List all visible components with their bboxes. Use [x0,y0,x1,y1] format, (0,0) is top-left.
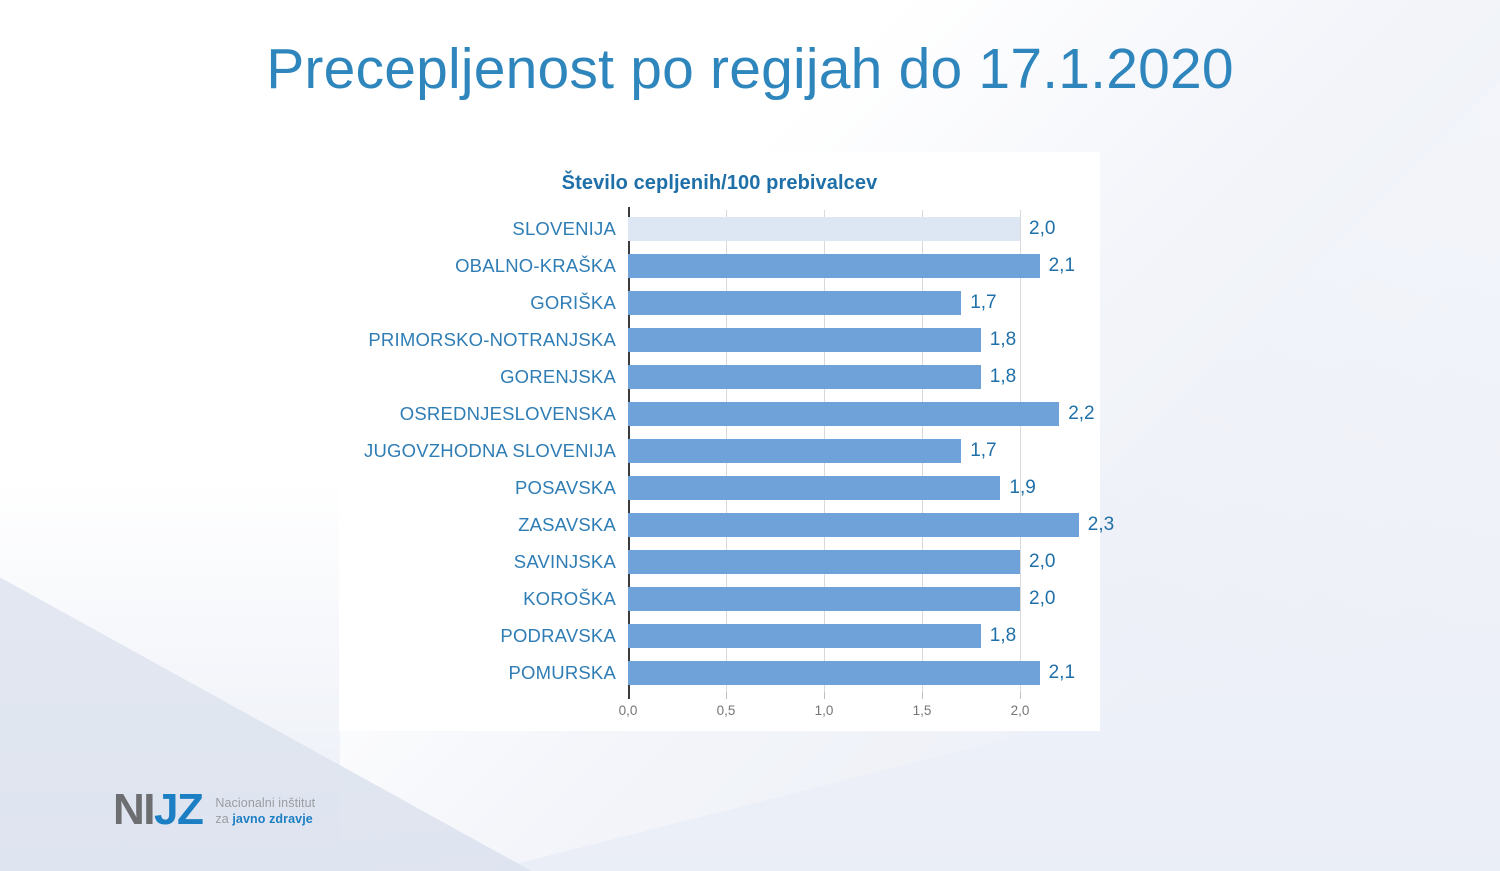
logo-tagline-line1: Nacionalni inštitut [215,796,315,811]
category-label: POSAVSKA [515,477,616,499]
bar-value-label: 2,1 [1049,662,1075,684]
x-tick-label: 1,5 [913,703,932,718]
bar[interactable] [628,365,981,389]
x-tick-label: 0,0 [619,703,638,718]
chart-x-axis: 0,00,51,01,52,0 [628,692,1020,732]
chart-bar-row: ZASAVSKA2,3 [628,507,1220,544]
chart-title: Število cepljenih/100 prebivalcev [339,172,1100,195]
category-label: POMURSKA [509,662,616,684]
x-tick-label: 2,0 [1011,703,1030,718]
category-label: KOROŠKA [523,588,616,610]
category-label: GORENJSKA [500,366,616,388]
logo-tagline: Nacionalni inštitut za javno zdravje [215,793,315,827]
category-label: JUGOVZHODNA SLOVENIJA [364,440,616,462]
category-label: ZASAVSKA [518,514,616,536]
chart-bar-row: OSREDNJESLOVENSKA2,2 [628,395,1220,432]
chart-bar-row: POMURSKA2,1 [628,655,1220,692]
category-label: SLOVENIJA [512,218,616,240]
logo-tagline-prefix: za [215,812,232,826]
chart-bar-row: POSAVSKA1,9 [628,470,1220,507]
category-label: PODRAVSKA [500,625,616,647]
bar[interactable] [628,587,1020,611]
slide-canvas: Precepljenost po regijah do 17.1.2020 Št… [0,0,1500,871]
category-label: OBALNO-KRAŠKA [455,255,616,277]
category-label: OSREDNJESLOVENSKA [400,403,616,425]
logo-tagline-bold: javno zdravje [232,812,313,826]
logo-wordmark-jz: JZ [154,785,202,834]
bar-value-label: 2,3 [1088,514,1114,536]
x-tick-mark [824,692,825,699]
chart-bar-row: PODRAVSKA1,8 [628,618,1220,655]
category-label: PRIMORSKO-NOTRANJSKA [368,329,616,351]
logo-wordmark-ni: NI [113,785,154,834]
bar-value-label: 2,0 [1029,588,1055,610]
category-label: GORIŠKA [530,292,616,314]
x-tick-label: 1,0 [815,703,834,718]
x-tick-mark [726,692,727,699]
bar[interactable] [628,439,961,463]
chart-bar-row: SLOVENIJA2,0 [628,210,1220,247]
chart-panel: Število cepljenih/100 prebivalcev SLOVEN… [339,152,1100,731]
slide-title: Precepljenost po regijah do 17.1.2020 [0,40,1500,100]
chart-bar-row: KOROŠKA2,0 [628,581,1220,618]
chart-bar-row: GORENJSKA1,8 [628,358,1220,395]
category-label: SAVINJSKA [514,551,616,573]
logo-wordmark: NIJZ [113,788,202,832]
bar-value-label: 2,2 [1068,403,1094,425]
bar-value-label: 1,9 [1009,477,1035,499]
bar-value-label: 2,0 [1029,551,1055,573]
bar[interactable] [628,254,1040,278]
nijz-logo: NIJZ Nacionalni inštitut za javno zdravj… [113,788,315,832]
bar[interactable] [628,476,1000,500]
bar[interactable] [628,624,981,648]
x-tick-label: 0,5 [717,703,736,718]
chart-bar-row: SAVINJSKA2,0 [628,544,1220,581]
chart-bar-row: JUGOVZHODNA SLOVENIJA1,7 [628,432,1220,469]
chart-bar-row: OBALNO-KRAŠKA2,1 [628,247,1220,284]
chart-bar-row: GORIŠKA1,7 [628,284,1220,321]
bar[interactable] [628,661,1040,685]
chart-plot-area: SLOVENIJA2,0OBALNO-KRAŠKA2,1GORIŠKA1,7PR… [628,210,1020,692]
bar[interactable] [628,217,1020,241]
bar-value-label: 1,8 [990,329,1016,351]
logo-tagline-line2: za javno zdravje [215,812,315,827]
x-tick-mark [628,692,630,699]
x-tick-mark [922,692,923,699]
bar-value-label: 1,7 [970,292,996,314]
bar[interactable] [628,291,961,315]
bar-value-label: 1,8 [990,366,1016,388]
bar[interactable] [628,513,1079,537]
bar-value-label: 1,8 [990,625,1016,647]
bar[interactable] [628,550,1020,574]
bar[interactable] [628,402,1059,426]
chart-bar-row: PRIMORSKO-NOTRANJSKA1,8 [628,321,1220,358]
bar-value-label: 2,1 [1049,255,1075,277]
x-tick-mark [1020,692,1021,699]
bar[interactable] [628,328,981,352]
bar-value-label: 2,0 [1029,218,1055,240]
bar-value-label: 1,7 [970,440,996,462]
